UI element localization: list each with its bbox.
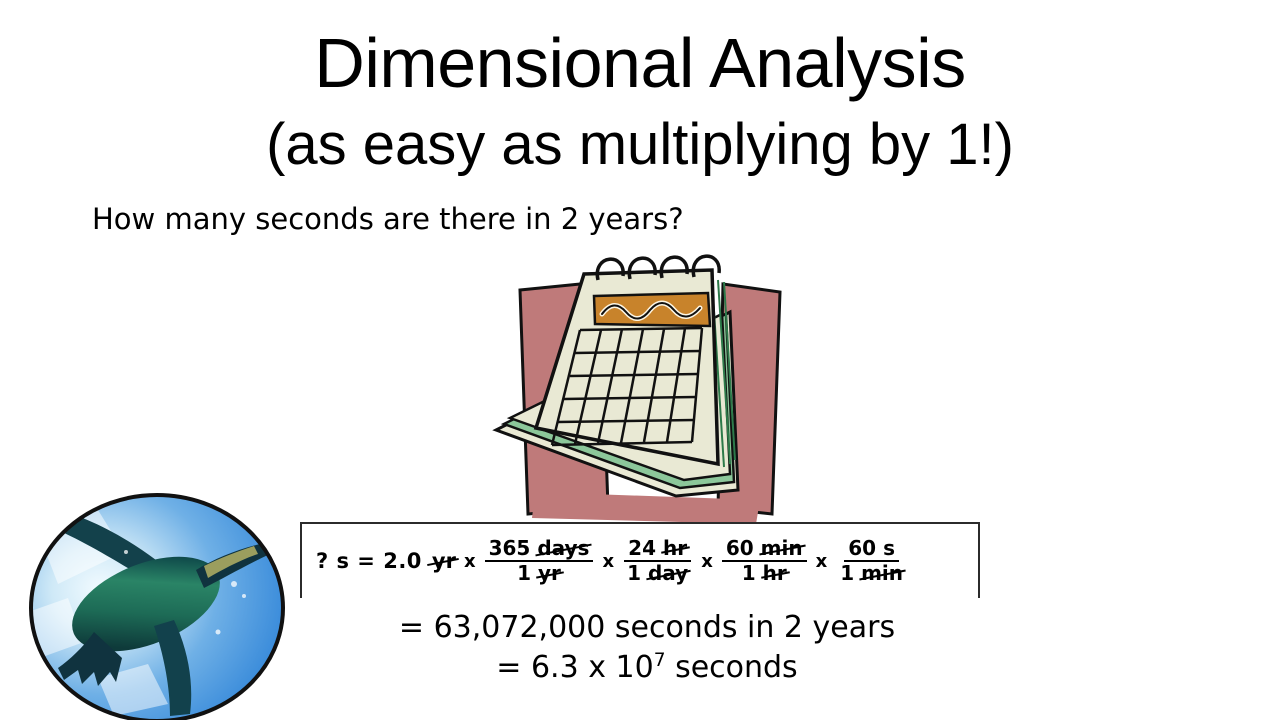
calendar-clipart [480, 252, 820, 527]
equation-lead-unit: yr [429, 549, 456, 573]
equation-box: ? s = 2.0 yr x 365 days 1 yr x 24 hr 1 d… [300, 522, 980, 598]
equation-row: ? s = 2.0 yr x 365 days 1 yr x 24 hr 1 d… [316, 538, 908, 584]
question-text: How many seconds are there in 2 years? [92, 204, 684, 236]
factor-4-numerator: 60 s [844, 538, 899, 562]
factor-2-numerator: 24 hr [624, 538, 691, 562]
factor-1-numerator: 365 days [485, 538, 594, 562]
times-symbol-3: x [816, 551, 828, 572]
factor-4-denominator: 1 min [836, 562, 907, 584]
times-symbol-2: x [701, 551, 713, 572]
factor-minutes-per-hour: 60 min 1 hr [722, 538, 807, 584]
times-symbol-1: x [602, 551, 614, 572]
factor-1-denominator: 1 yr [513, 562, 565, 584]
answer-line-2: = 6.3 x 107 seconds [0, 650, 1280, 685]
page-subtitle: (as easy as multiplying by 1!) [0, 116, 1280, 174]
answer-line-1: = 63,072,000 seconds in 2 years [0, 610, 1280, 645]
times-symbol-0: x [464, 551, 476, 572]
answer-2-exponent: 7 [654, 650, 666, 671]
answer-2-suffix: seconds [666, 650, 798, 685]
answer-2-prefix: = 6.3 x 10 [496, 650, 653, 685]
slide-canvas: Dimensional Analysis (as easy as multipl… [0, 0, 1280, 720]
factor-seconds-per-minute: 60 s 1 min [836, 538, 907, 584]
page-title: Dimensional Analysis [0, 28, 1280, 98]
equation-lead: ? s = 2.0 [316, 549, 422, 573]
factor-hours-per-day: 24 hr 1 day [623, 538, 692, 584]
factor-2-denominator: 1 day [623, 562, 692, 584]
factor-days-per-year: 365 days 1 yr [485, 538, 594, 584]
penguin-photo [28, 492, 286, 720]
factor-3-denominator: 1 hr [738, 562, 791, 584]
factor-3-numerator: 60 min [722, 538, 807, 562]
